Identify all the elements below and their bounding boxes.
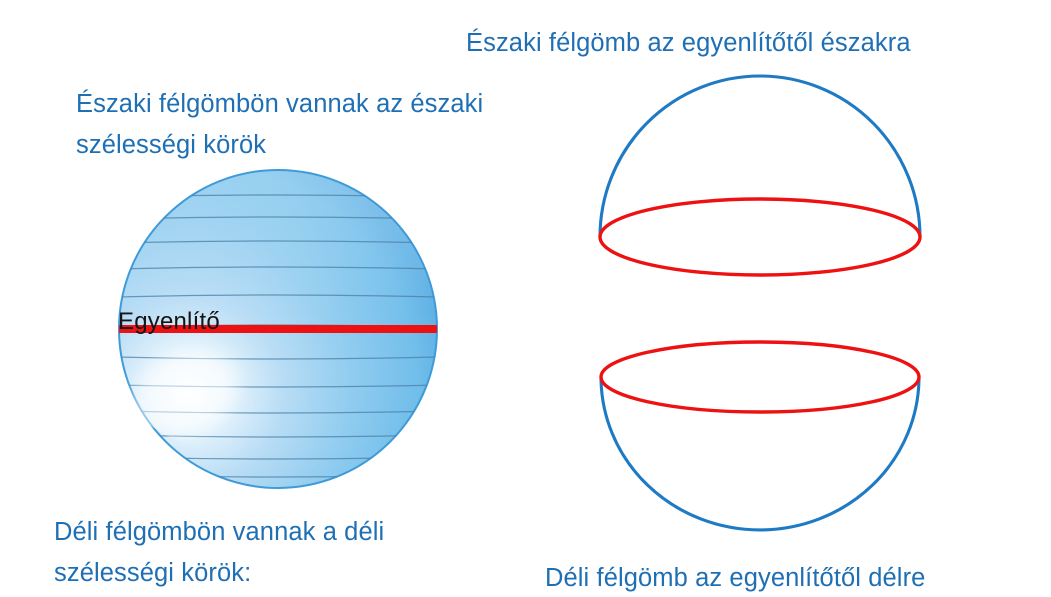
northern-dome-arc	[600, 76, 920, 237]
hemispheres-svg	[585, 60, 935, 550]
globe-equator-line	[114, 325, 444, 333]
southern-hemisphere-bowl	[601, 342, 919, 530]
northern-equator-ellipse	[600, 199, 920, 275]
slide-canvas: Északi félgömb az egyenlítőtől északra É…	[0, 0, 1051, 597]
globe-equator-line-group	[114, 325, 444, 333]
northern-hemisphere-dome	[600, 76, 920, 275]
northern-hemisphere-title: Északi félgömb az egyenlítőtől északra	[466, 23, 986, 64]
globe-svg	[118, 168, 439, 491]
southern-bowl-arc	[601, 377, 919, 530]
hemispheres-illustration	[585, 60, 935, 550]
globe-illustration: Egyenlítő	[118, 168, 439, 491]
southern-hemisphere-title: Déli félgömb az egyenlítőtől délre	[545, 558, 1015, 597]
northern-latitudes-caption: Északi félgömbön vannak az északi széles…	[76, 84, 556, 167]
southern-latitudes-caption: Déli félgömbön vannak a déli szélességi …	[54, 512, 484, 595]
southern-equator-ellipse	[601, 342, 919, 412]
